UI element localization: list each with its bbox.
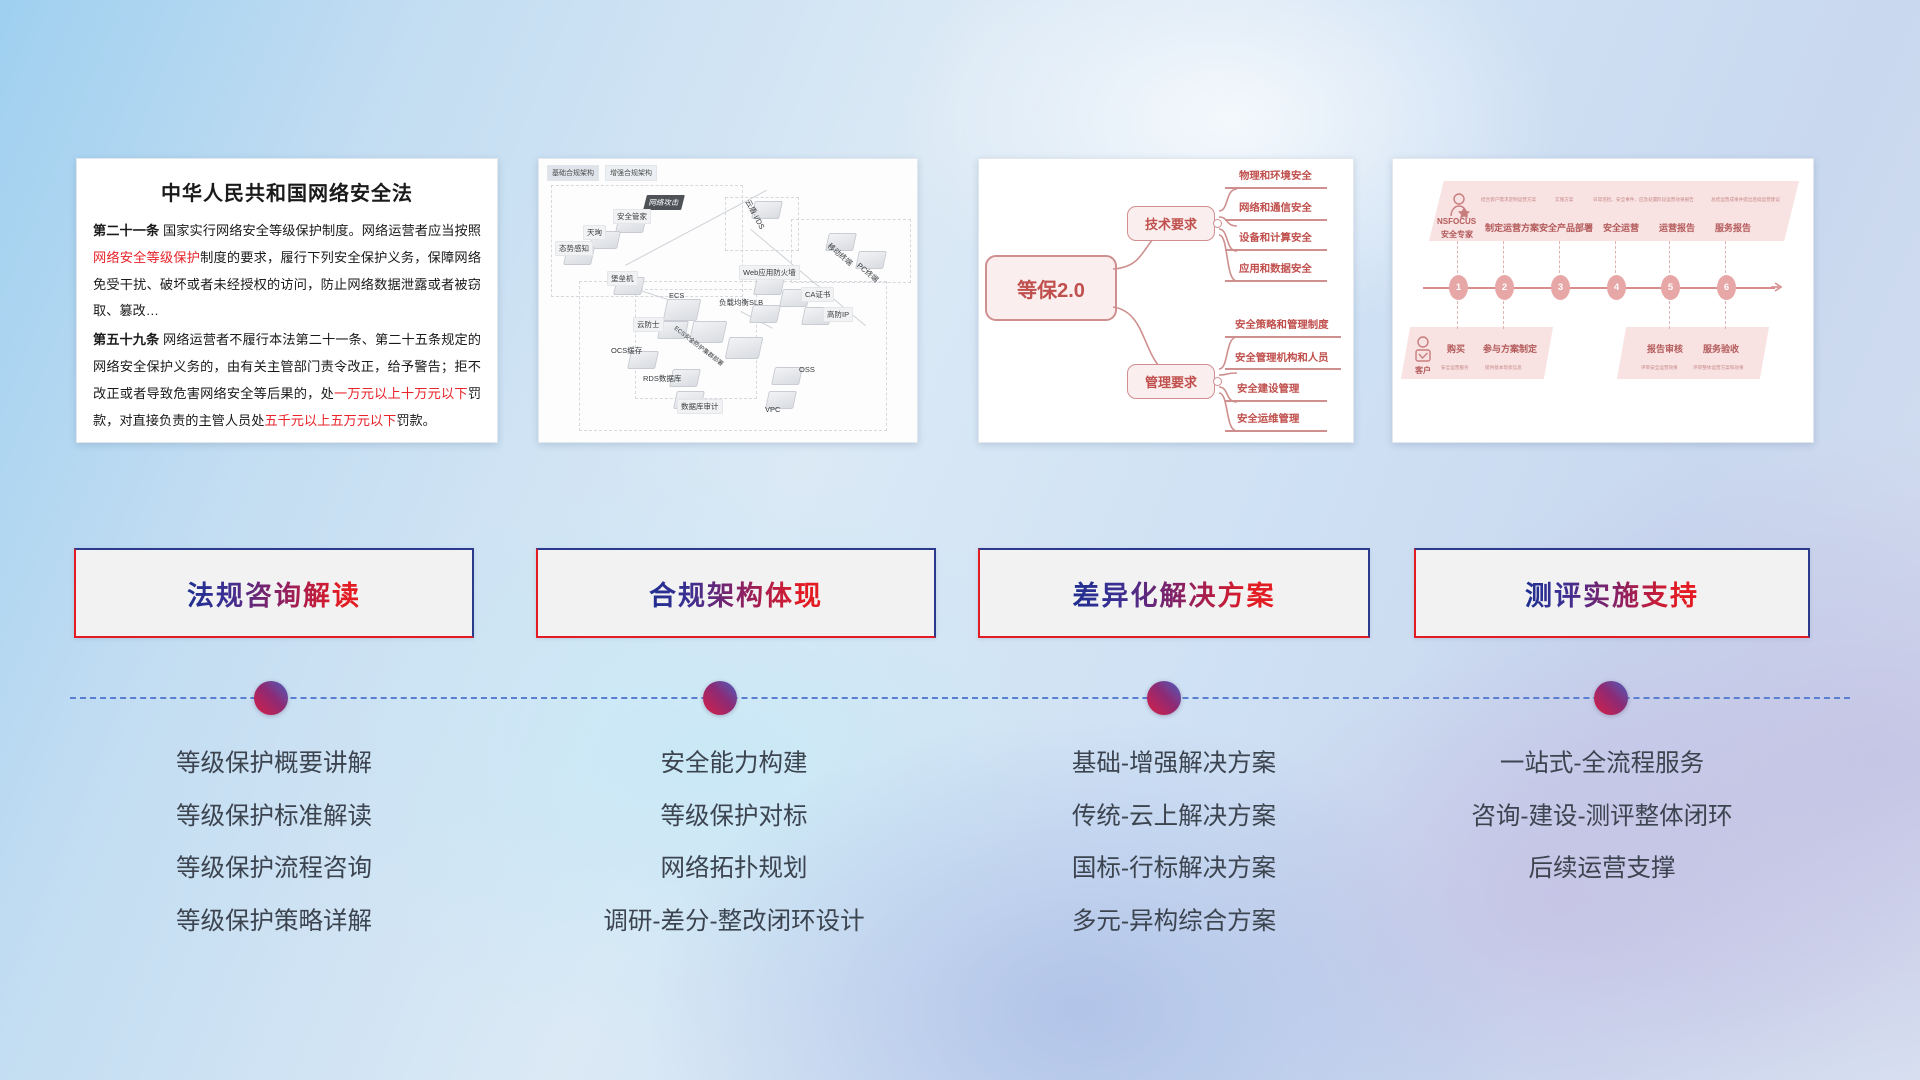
headline-label-2: 合规架构体现 — [649, 574, 823, 613]
mindmap-branch-management: 管理要求 — [1127, 364, 1215, 399]
mindmap-leaf-mgmt-0: 安全策略和管理制度 — [1235, 316, 1329, 331]
card-nsfocus-timeline: NSFOCUS 安全专家 客户 结合客户需求定制运营方案 制定运营方案 实施方案… — [1392, 158, 1814, 443]
architecture-tabs: 基础合规架构 增强合规架构 — [547, 165, 657, 181]
nsfocus-bottom-title-1: 参与方案制定 — [1483, 342, 1537, 355]
chip-situation-awareness: 态势感知 — [555, 241, 593, 256]
law-run-2-4: 罚款。 — [396, 413, 436, 428]
column-2-item-3: 调研-差分-整改闭环设计 — [528, 910, 940, 935]
mindmap-leaf-tech-1: 网络和通信安全 — [1239, 199, 1312, 214]
mindmap-collapse-dot-management — [1213, 377, 1222, 386]
nsfocus-top-title-0: 制定运营方案 — [1485, 221, 1539, 234]
column-1-item-2: 等级保护流程咨询 — [76, 857, 472, 882]
law-paragraph-1: 第二十一条 国家实行网络安全等级保护制度。网络运营者应当按照网络安全等级保护制度… — [93, 218, 481, 325]
law-run-2-3: 五千元以上五万元以下 — [264, 413, 396, 428]
mindmap-leaf-tech-2: 设备和计算安全 — [1239, 229, 1312, 244]
mindmap-leafline-tech-0 — [1225, 187, 1327, 189]
mindmap-leafline-mgmt-0 — [1225, 336, 1341, 338]
law-content: 中华人民共和国网络安全法 第二十一条 国家实行网络安全等级保护制度。网络运营者应… — [77, 159, 497, 442]
nsfocus-top-sub-4: 总结运营成果并提出后续运营建议 — [1711, 197, 1780, 203]
nsfocus-bottom-sub-0: 安全运营服务 — [1441, 365, 1469, 371]
mindmap-leafline-mgmt-1 — [1225, 368, 1341, 370]
chip-ocs-cache: OCS缓存 — [607, 343, 646, 358]
nsfocus-node-6: 6 — [1717, 275, 1736, 300]
nsfocus-node-4: 4 — [1607, 275, 1626, 300]
chip-waf: Web应用防火墙 — [739, 265, 800, 280]
chip-network-attack: 网络攻击 — [643, 195, 685, 210]
nsfocus-bottom-sub-3: 评审整体运营方案和效果 — [1693, 365, 1744, 371]
nsfocus-top-sub-2: 日常巡检、安全事件、应急处置 — [1593, 197, 1657, 203]
column-2: 安全能力构建 等级保护对标 网络拓扑规划 调研-差分-整改闭环设计 — [528, 752, 940, 962]
node-ecs-3 — [725, 337, 764, 359]
mindmap-leaf-mgmt-3: 安全运维管理 — [1237, 410, 1299, 425]
nsfocus-drop-3u — [1559, 241, 1561, 273]
headline-box-2[interactable]: 合规架构体现 — [536, 548, 936, 638]
column-3-item-2: 国标-行标解决方案 — [968, 857, 1380, 882]
nsfocus-top-title-2: 安全运营 — [1603, 221, 1639, 234]
headline-box-3[interactable]: 差异化解决方案 — [978, 548, 1370, 638]
chip-anti-ddos-ip: 高防IP — [823, 307, 853, 322]
chip-cloud-defender: 云防士 — [633, 317, 664, 332]
mindmap-leafline-mgmt-3 — [1225, 430, 1327, 432]
tab-basic-architecture[interactable]: 基础合规架构 — [547, 165, 599, 181]
mindmap-leafline-tech-1 — [1225, 219, 1327, 221]
nsfocus-diagram: NSFOCUS 安全专家 客户 结合客户需求定制运营方案 制定运营方案 实施方案… — [1393, 159, 1813, 442]
mindmap-leafline-tech-3 — [1225, 280, 1327, 282]
column-1-item-3: 等级保护策略详解 — [76, 910, 472, 935]
nsfocus-top-title-1: 安全产品部署 — [1539, 221, 1593, 234]
nsfocus-drop-1u — [1457, 241, 1459, 273]
chip-oss: OSS — [795, 363, 819, 376]
nsfocus-drop-6d — [1725, 301, 1727, 329]
column-4: 一站式-全流程服务 咨询-建设-测评整体闭环 后续运营支撑 — [1392, 752, 1812, 910]
law-paragraph-2: 第五十九条 网络运营者不履行本法第二十一条、第二十五条规定的网络安全保护义务的，… — [93, 327, 481, 434]
column-1-item-0: 等级保护概要讲解 — [76, 752, 472, 777]
mindmap-leaf-mgmt-2: 安全建设管理 — [1237, 380, 1299, 395]
law-article-1: 第二十一条 — [93, 223, 159, 238]
nsfocus-drop-6u — [1725, 241, 1727, 273]
timeline-dot-4[interactable] — [1594, 681, 1628, 715]
card-law: 中华人民共和国网络安全法 第二十一条 国家实行网络安全等级保护制度。网络运营者应… — [76, 158, 498, 443]
headline-label-3: 差异化解决方案 — [1073, 574, 1276, 613]
column-3-item-1: 传统-云上解决方案 — [968, 805, 1380, 830]
nsfocus-drop-1d — [1457, 301, 1459, 329]
nsfocus-top-sub-0: 结合客户需求定制运营方案 — [1481, 197, 1536, 203]
mindmap-leaf-tech-0: 物理和环境安全 — [1239, 167, 1312, 182]
card-mindmap: 等保2.0 技术要求 管理要求 物理和环境安全 网络和通信安全 设备 — [978, 158, 1354, 443]
nsfocus-bottom-sub-2: 评审安全运营效果 — [1641, 365, 1678, 371]
mindmap-leafline-tech-2 — [1225, 249, 1327, 251]
law-run-1-0: 国家实行网络安全等级保护制度。网络运营者应当按照 — [159, 223, 481, 238]
headline-label-4: 测评实施支持 — [1525, 574, 1699, 613]
architecture-diagram: 基础合规架构 增强合规架构 — [539, 159, 917, 442]
chip-tianxun: 天珣 — [583, 225, 606, 240]
law-run-1-1: 网络安全等级保护 — [93, 250, 200, 265]
nsfocus-bottom-title-2: 报告审核 — [1647, 342, 1683, 355]
chip-security-manager: 安全管家 — [613, 209, 651, 224]
nsfocus-top-sub-3: 阶段运营效果报告 — [1657, 197, 1694, 203]
node-ecs — [663, 299, 702, 321]
column-3-item-3: 多元-异构综合方案 — [968, 910, 1380, 935]
column-4-item-1: 咨询-建设-测评整体闭环 — [1392, 805, 1812, 830]
nsfocus-bottom-sub-1: 提供基本现状信息 — [1485, 365, 1522, 371]
nsfocus-top-title-4: 服务报告 — [1715, 221, 1751, 234]
mindmap-collapse-dot-technical — [1213, 219, 1222, 228]
chip-slb: 负载均衡SLB — [715, 295, 767, 310]
nsfocus-node-5: 5 — [1661, 275, 1680, 300]
tab-enhanced-architecture[interactable]: 增强合规架构 — [605, 165, 657, 181]
card-architecture: 基础合规架构 增强合规架构 — [538, 158, 918, 443]
law-title: 中华人民共和国网络安全法 — [93, 177, 481, 206]
nsfocus-drop-2u — [1503, 241, 1505, 273]
column-3: 基础-增强解决方案 传统-云上解决方案 国标-行标解决方案 多元-异构综合方案 — [968, 752, 1380, 962]
mindmap-branch-technical: 技术要求 — [1127, 206, 1215, 241]
law-run-2-1: 一万元以上十万元以下 — [334, 386, 468, 401]
column-4-item-0: 一站式-全流程服务 — [1392, 752, 1812, 777]
headline-label-1: 法规咨询解读 — [187, 574, 361, 613]
chip-ca-cert: CA证书 — [801, 287, 834, 302]
column-2-item-2: 网络拓扑规划 — [528, 857, 940, 882]
chip-ecs: ECS — [665, 289, 688, 302]
timeline-dashed-line — [70, 697, 1850, 699]
timeline-dot-1[interactable] — [254, 681, 288, 715]
nsfocus-drop-4u — [1615, 241, 1617, 273]
nsfocus-bottom-title-0: 购买 — [1447, 342, 1465, 355]
mindmap-leaf-mgmt-1: 安全管理机构和人员 — [1235, 349, 1329, 364]
headline-box-4[interactable]: 测评实施支持 — [1414, 548, 1810, 638]
column-1-item-1: 等级保护标准解读 — [76, 805, 472, 830]
column-2-item-1: 等级保护对标 — [528, 805, 940, 830]
column-4-item-2: 后续运营支撑 — [1392, 857, 1812, 882]
nsfocus-bottom-title-3: 服务验收 — [1703, 342, 1739, 355]
zone-right — [791, 219, 911, 283]
headline-box-1[interactable]: 法规咨询解读 — [74, 548, 474, 638]
nsfocus-actor-top-line2: 安全专家 — [1441, 229, 1473, 240]
nsfocus-node-2: 2 — [1495, 275, 1514, 300]
chip-rds: RDS数据库 — [639, 371, 685, 386]
chip-db-audit: 数据库审计 — [677, 399, 723, 414]
timeline-dot-2[interactable] — [703, 681, 737, 715]
law-article-2: 第五十九条 — [93, 332, 159, 347]
chip-vpc: VPC — [761, 403, 784, 416]
timeline-dot-3[interactable] — [1147, 681, 1181, 715]
nsfocus-top-title-3: 运营报告 — [1659, 221, 1695, 234]
slide-root: 中华人民共和国网络安全法 第二十一条 国家实行网络安全等级保护制度。网络运营者应… — [0, 0, 1920, 1080]
nsfocus-node-3: 3 — [1551, 275, 1570, 300]
nsfocus-drop-5d — [1669, 301, 1671, 329]
mindmap-leafline-mgmt-2 — [1225, 400, 1327, 402]
mindmap-diagram: 等保2.0 技术要求 管理要求 物理和环境安全 网络和通信安全 设备 — [979, 159, 1353, 442]
nsfocus-drop-5u — [1669, 241, 1671, 273]
column-2-item-0: 安全能力构建 — [528, 752, 940, 777]
chip-bastion-host: 堡垒机 — [607, 271, 638, 286]
nsfocus-actor-bottom: 客户 — [1415, 365, 1431, 376]
nsfocus-node-1: 1 — [1449, 275, 1468, 300]
column-1: 等级保护概要讲解 等级保护标准解读 等级保护流程咨询 等级保护策略详解 — [76, 752, 472, 962]
nsfocus-top-sub-1: 实施方案 — [1555, 197, 1573, 203]
nsfocus-drop-2d — [1503, 301, 1505, 329]
mindmap-leaf-tech-3: 应用和数据安全 — [1239, 260, 1312, 275]
column-3-item-0: 基础-增强解决方案 — [968, 752, 1380, 777]
nsfocus-actor-top-line1: NSFOCUS — [1437, 217, 1476, 226]
